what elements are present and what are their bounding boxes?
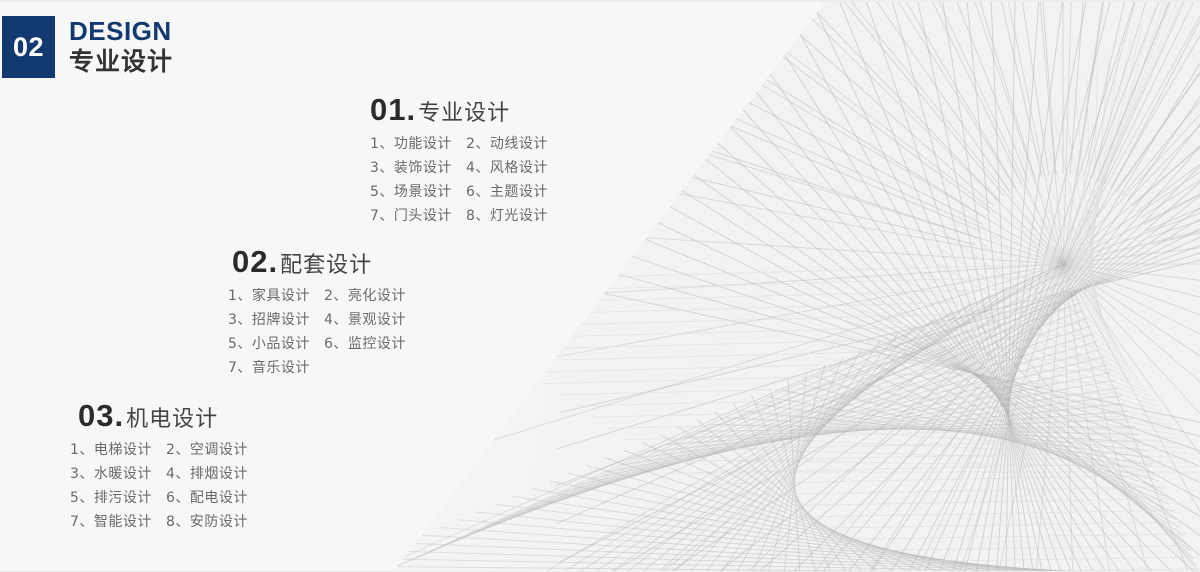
list-item-right: 6、主题设计: [466, 180, 548, 204]
list-item-left: 7、智能设计: [70, 510, 166, 534]
block-number: 02: [232, 246, 268, 277]
list-item-right: 2、空调设计: [166, 438, 248, 462]
list-item: 5、排污设计 6、配电设计: [70, 486, 248, 510]
list-item-left: 7、音乐设计: [228, 356, 324, 380]
block-number: 03: [78, 400, 114, 431]
list-item-right: 4、景观设计: [324, 308, 406, 332]
content-block-03: 03 . 机电设计 1、电梯设计 2、空调设计 3、水暖设计 4、排烟设计 5、…: [78, 400, 248, 534]
list-item-left: 3、招牌设计: [228, 308, 324, 332]
block-title: 机电设计: [126, 409, 218, 431]
list-item-left: 1、功能设计: [370, 132, 466, 156]
block-dot: .: [268, 246, 277, 277]
list-item-left: 5、场景设计: [370, 180, 466, 204]
block-heading: 03 . 机电设计: [78, 400, 248, 431]
block-item-list: 1、家具设计 2、亮化设计 3、招牌设计 4、景观设计 5、小品设计 6、监控设…: [228, 284, 406, 380]
block-item-list: 1、电梯设计 2、空调设计 3、水暖设计 4、排烟设计 5、排污设计 6、配电设…: [70, 438, 248, 534]
list-item-right: 2、动线设计: [466, 132, 548, 156]
list-item: 1、电梯设计 2、空调设计: [70, 438, 248, 462]
list-item-left: 3、水暖设计: [70, 462, 166, 486]
section-title-chinese: 专业设计: [69, 47, 173, 77]
list-item-right: 4、排烟设计: [166, 462, 248, 486]
list-item: 7、音乐设计: [228, 356, 406, 380]
content-block-01: 01 . 专业设计 1、功能设计 2、动线设计 3、装饰设计 4、风格设计 5、…: [370, 94, 548, 228]
list-item-left: 7、门头设计: [370, 204, 466, 228]
list-item-right: 6、配电设计: [166, 486, 248, 510]
design-slide: 02 DESIGN 专业设计 01 . 专业设计 1、功能设计 2、动线设计 3…: [0, 0, 1200, 572]
content-block-02: 02 . 配套设计 1、家具设计 2、亮化设计 3、招牌设计 4、景观设计 5、…: [232, 246, 406, 380]
section-number-badge: 02: [2, 16, 55, 78]
block-item-list: 1、功能设计 2、动线设计 3、装饰设计 4、风格设计 5、场景设计 6、主题设…: [370, 132, 548, 228]
list-item: 3、装饰设计 4、风格设计: [370, 156, 548, 180]
list-item: 7、智能设计 8、安防设计: [70, 510, 248, 534]
list-item-right: 8、灯光设计: [466, 204, 548, 228]
list-item-left: 5、小品设计: [228, 332, 324, 356]
list-item-right: 2、亮化设计: [324, 284, 406, 308]
list-item-right: 6、监控设计: [324, 332, 406, 356]
list-item: 7、门头设计 8、灯光设计: [370, 204, 548, 228]
list-item: 3、水暖设计 4、排烟设计: [70, 462, 248, 486]
block-dot: .: [114, 400, 123, 431]
list-item-left: 1、家具设计: [228, 284, 324, 308]
block-title: 配套设计: [280, 255, 372, 277]
list-item: 1、功能设计 2、动线设计: [370, 132, 548, 156]
list-item: 3、招牌设计 4、景观设计: [228, 308, 406, 332]
list-item-left: 1、电梯设计: [70, 438, 166, 462]
list-item-right: 4、风格设计: [466, 156, 548, 180]
list-item-right: 8、安防设计: [166, 510, 248, 534]
list-item: 5、场景设计 6、主题设计: [370, 180, 548, 204]
list-item-left: 3、装饰设计: [370, 156, 466, 180]
list-item-left: 5、排污设计: [70, 486, 166, 510]
block-title: 专业设计: [418, 103, 510, 125]
section-title-english: DESIGN: [69, 17, 173, 45]
block-dot: .: [406, 94, 415, 125]
section-header: 02 DESIGN 专业设计: [2, 16, 173, 78]
section-number-text: 02: [13, 32, 44, 63]
block-heading: 02 . 配套设计: [232, 246, 406, 277]
section-header-text: DESIGN 专业设计: [69, 16, 173, 78]
block-number: 01: [370, 94, 406, 125]
block-heading: 01 . 专业设计: [370, 94, 548, 125]
list-item: 5、小品设计 6、监控设计: [228, 332, 406, 356]
list-item: 1、家具设计 2、亮化设计: [228, 284, 406, 308]
